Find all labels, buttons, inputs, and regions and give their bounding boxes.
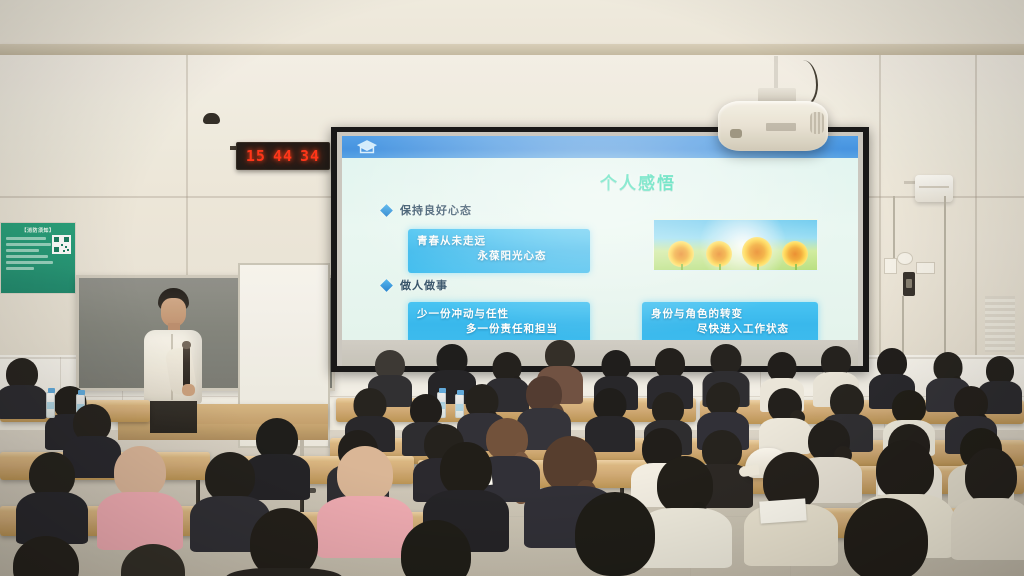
wall-joint xyxy=(879,55,881,355)
presenter-hand xyxy=(182,384,195,396)
screen-surface: 个人感悟 保持良好心态 青春从未走远 永葆阳光心态 做人做事 少一份 xyxy=(337,132,863,366)
projector-lens xyxy=(730,129,742,138)
power-adapter xyxy=(903,272,915,296)
wall-vent xyxy=(985,296,1015,352)
audience-person xyxy=(108,544,198,576)
box1-line2: 永葆阳光心态 xyxy=(417,249,581,264)
box3-line1: 身份与角色的转变 xyxy=(651,307,809,322)
cable xyxy=(944,196,946,354)
power-outlet[interactable] xyxy=(884,258,897,274)
qr-code-icon xyxy=(52,235,71,254)
diamond-bullet-icon xyxy=(380,204,393,217)
led-wall-clock: 15 44 34 xyxy=(236,142,330,170)
slide-bullet-1: 保持良好心态 xyxy=(382,202,472,218)
ceiling-beam xyxy=(0,44,1024,55)
box2-line2: 多一份责任和担当 xyxy=(417,322,581,337)
audience-person xyxy=(236,508,332,576)
slide-text-box-3: 身份与角色的转变 尽快进入工作状态 xyxy=(642,302,818,340)
box1-line1: 青春从未走远 xyxy=(417,234,581,249)
clock-hours: 15 xyxy=(246,147,266,165)
poster-title: 【消防须知】 xyxy=(6,227,70,234)
presentation-slide: 个人感悟 保持良好心态 青春从未走远 永葆阳光心态 做人做事 少一份 xyxy=(342,136,858,340)
projector-rod xyxy=(774,56,778,90)
audience-person xyxy=(560,492,670,576)
box3-line2: 尽快进入工作状态 xyxy=(651,322,809,337)
round-socket[interactable] xyxy=(897,252,913,265)
audience-person xyxy=(0,536,92,576)
lecture-hall-screenshot: 【消防须知】 15 44 34 xyxy=(0,0,1024,576)
slide-title-text: 个人感悟 xyxy=(600,169,676,194)
slide-text-box-2: 少一份冲动与任性 多一份责任和担当 xyxy=(408,302,590,340)
audience-person xyxy=(104,446,176,542)
box2-line1: 少一份冲动与任性 xyxy=(417,307,581,322)
slide-title: 个人感悟 xyxy=(342,169,858,194)
slide-text-box-1: 青春从未走远 永葆阳光心态 xyxy=(408,229,590,273)
power-outlet[interactable] xyxy=(916,262,935,274)
projector-vent xyxy=(810,112,824,134)
wall-joint xyxy=(975,55,977,355)
sunflower-photo xyxy=(653,219,818,271)
slide-bullet-2: 做人做事 xyxy=(382,277,448,293)
wall-notice-poster: 【消防须知】 xyxy=(0,222,76,294)
presenter-trousers xyxy=(150,401,197,433)
water-bottle xyxy=(46,392,55,418)
projection-screen: 个人感悟 保持良好心态 青春从未走远 永葆阳光心态 做人做事 少一份 xyxy=(331,127,869,372)
clock-minutes: 44 xyxy=(273,147,293,165)
bullet-2-label: 做人做事 xyxy=(400,277,448,293)
cable xyxy=(902,296,904,354)
audience-person xyxy=(0,358,44,414)
audience-person xyxy=(828,498,944,576)
bullet-1-label: 保持良好心态 xyxy=(400,202,472,218)
ceiling-camera-icon xyxy=(203,113,220,124)
handheld-microphone xyxy=(183,346,190,388)
audience-person xyxy=(958,448,1024,558)
projector-badge xyxy=(766,123,796,131)
cable xyxy=(893,196,895,258)
wall-speaker-unit xyxy=(915,175,953,202)
clock-seconds: 34 xyxy=(300,147,320,165)
audience-person xyxy=(20,452,84,538)
handout-paper xyxy=(759,498,806,523)
graduation-cap-icon xyxy=(356,139,378,155)
audience-person xyxy=(388,520,484,576)
diamond-bullet-icon xyxy=(380,279,393,292)
